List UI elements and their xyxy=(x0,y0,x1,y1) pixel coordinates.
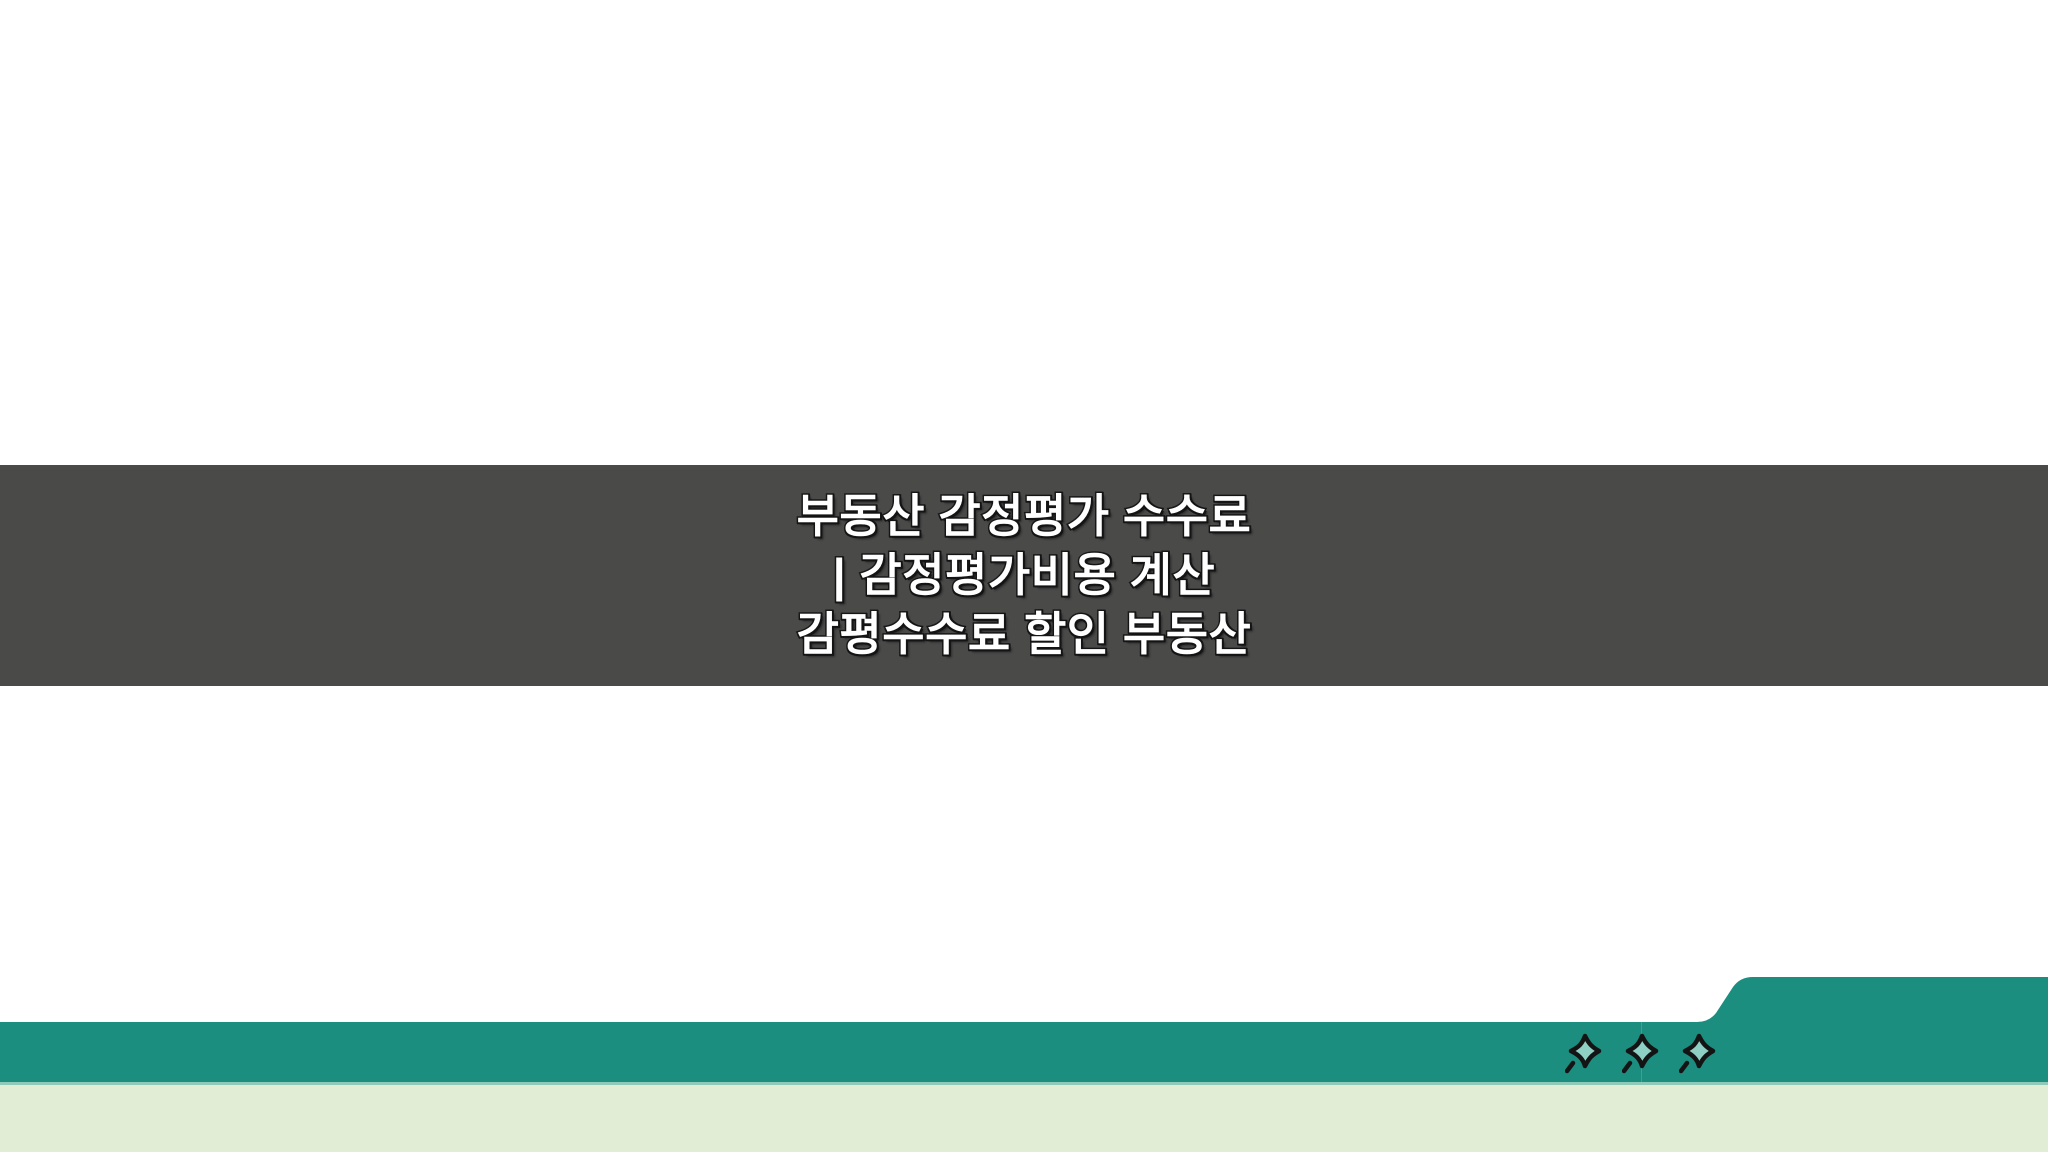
middle-whitespace xyxy=(0,686,2048,1022)
title-band: 부동산 감정평가 수수료 | 감정평가비용 계산 감평수수료 할인 부동산 xyxy=(0,465,2048,686)
pushpin-icon-2 xyxy=(1622,1030,1662,1074)
title-line-1: 부동산 감정평가 수수료 xyxy=(797,487,1252,546)
title-line-3: 감평수수료 할인 부동산 xyxy=(797,605,1252,664)
title-line-2: | 감정평가비용 계산 xyxy=(797,546,1252,605)
teal-band-shape xyxy=(0,975,2048,1085)
title-stack: 부동산 감정평가 수수료 | 감정평가비용 계산 감평수수료 할인 부동산 xyxy=(797,487,1252,664)
pushpin-icon-row xyxy=(1565,1022,1719,1082)
banner-canvas: 부동산 감정평가 수수료 | 감정평가비용 계산 감평수수료 할인 부동산 xyxy=(0,0,2048,1152)
pushpin-icon-3 xyxy=(1679,1030,1719,1074)
light-green-footer-band xyxy=(0,1085,2048,1152)
top-whitespace xyxy=(0,0,2048,465)
teal-footer-band xyxy=(0,975,2048,1085)
pushpin-icon-1 xyxy=(1565,1030,1605,1074)
